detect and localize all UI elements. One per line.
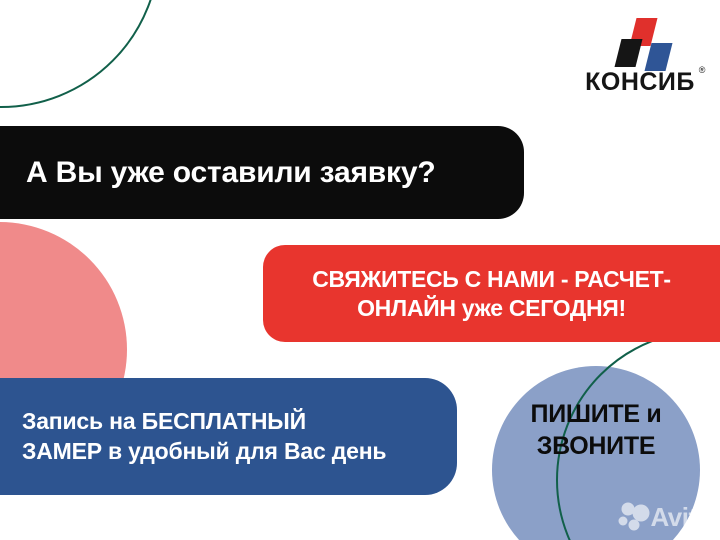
banner-question: А Вы уже оставили заявку? [0,126,524,219]
avito-watermark: Avito [616,502,712,532]
banner-contact-line-2-part-3: СЕГОДНЯ! [509,295,626,321]
brand-name-text: КОНСИБ [585,68,695,96]
decorative-circle-outline-top-left [0,0,160,108]
logo-parallelogram-blue-icon [645,43,673,71]
circle-caption: ПИШИТЕ и ЗВОНИТЕ [492,398,700,462]
banner-measurement: Запись на БЕСПЛАТНЫЙ ЗАМЕР в удобный для… [0,378,457,495]
logo-parallelogram-black-icon [615,39,643,67]
circle-caption-line-2: ЗВОНИТЕ [492,430,700,462]
brand-logo: КОНСИБ ® [576,18,704,95]
banner-contact-line-2: ОНЛАЙН уже СЕГОДНЯ! [285,294,698,322]
banner-measurement-line-2: ЗАМЕР в удобный для Вас день [22,437,435,467]
banner-contact: СВЯЖИТЕСЬ С НАМИ - РАСЧЕТ- ОНЛАЙН уже СЕ… [263,245,720,342]
circle-caption-line-1: ПИШИТЕ и [492,398,700,430]
banner-measurement-line-1: Запись на БЕСПЛАТНЫЙ [22,407,435,437]
banner-question-text: А Вы уже оставили заявку? [26,156,498,189]
registered-trademark-icon: ® [699,66,706,75]
banner-contact-line-1: СВЯЖИТЕСЬ С НАМИ - РАСЧЕТ- [285,265,698,293]
avito-dots-icon [616,502,650,532]
poster-canvas: КОНСИБ ® А Вы уже оставили заявку? СВЯЖИ… [0,0,720,540]
banner-contact-line-2-part-1: ОНЛАЙН [357,295,462,321]
brand-name-wordmark: КОНСИБ ® [585,70,695,95]
logo-mark-icon [607,18,673,66]
avito-watermark-label: Avito [650,504,712,530]
banner-contact-line-2-part-2: уже [462,295,509,321]
